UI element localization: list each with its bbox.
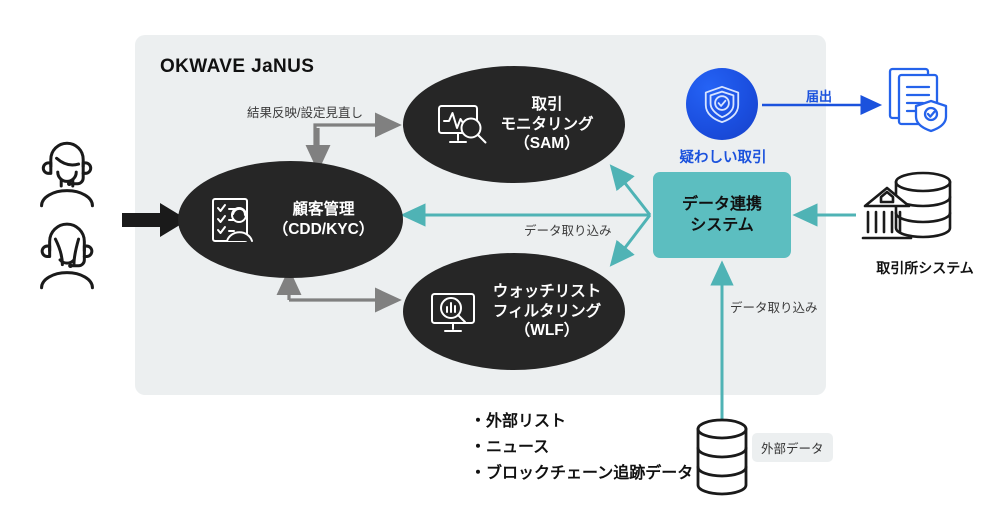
operator-icon-2: [30, 216, 104, 290]
data-linkage-system-node[interactable]: データ連携 システム: [653, 172, 791, 258]
suspicious-transaction-badge[interactable]: [686, 68, 758, 140]
monitor-waveform-magnifier-icon: [434, 97, 490, 153]
external-source-list: ・外部リスト ・ニュース ・ブロックチェーン追跡データ: [470, 409, 693, 487]
external-data-badge: 外部データ: [752, 433, 833, 462]
shield-check-icon: [701, 83, 743, 125]
exchange-system-label: 取引所システム: [855, 258, 995, 278]
edge-label-report: 届出: [806, 86, 832, 105]
report-documents-icon: [884, 64, 956, 142]
edge-label-ingest-external: データ取り込み: [730, 297, 818, 316]
exchange-system-icon: [857, 168, 963, 252]
operator-icon-1: [30, 134, 104, 208]
list-item: ・外部リスト: [470, 409, 693, 435]
suspicious-transaction-label: 疑わしい取引: [660, 146, 786, 167]
edge-label-ingest-systems: データ取り込み: [524, 220, 612, 239]
edge-label-feedback: 結果反映/設定見直し: [247, 102, 363, 121]
transaction-monitoring-label: 取引 モニタリング （SAM）: [500, 95, 593, 154]
customer-management-label: 顧客管理 （CDD/KYC）: [273, 200, 375, 240]
clipboard-person-icon: [207, 192, 263, 248]
customer-management-node[interactable]: 顧客管理 （CDD/KYC）: [178, 161, 403, 278]
list-item: ・ニュース: [470, 435, 693, 461]
transaction-monitoring-node[interactable]: 取引 モニタリング （SAM）: [403, 66, 625, 183]
monitor-barchart-magnifier-icon: [427, 284, 483, 340]
external-data-icon: [690, 415, 754, 501]
watchlist-filtering-node[interactable]: ウォッチリスト フィルタリング （WLF）: [403, 253, 625, 370]
list-item: ・ブロックチェーン追跡データ: [470, 461, 693, 487]
watchlist-filtering-label: ウォッチリスト フィルタリング （WLF）: [493, 282, 602, 341]
page-title: OKWAVE JaNUS: [160, 56, 314, 78]
data-linkage-system-label: データ連携 システム: [682, 194, 762, 236]
